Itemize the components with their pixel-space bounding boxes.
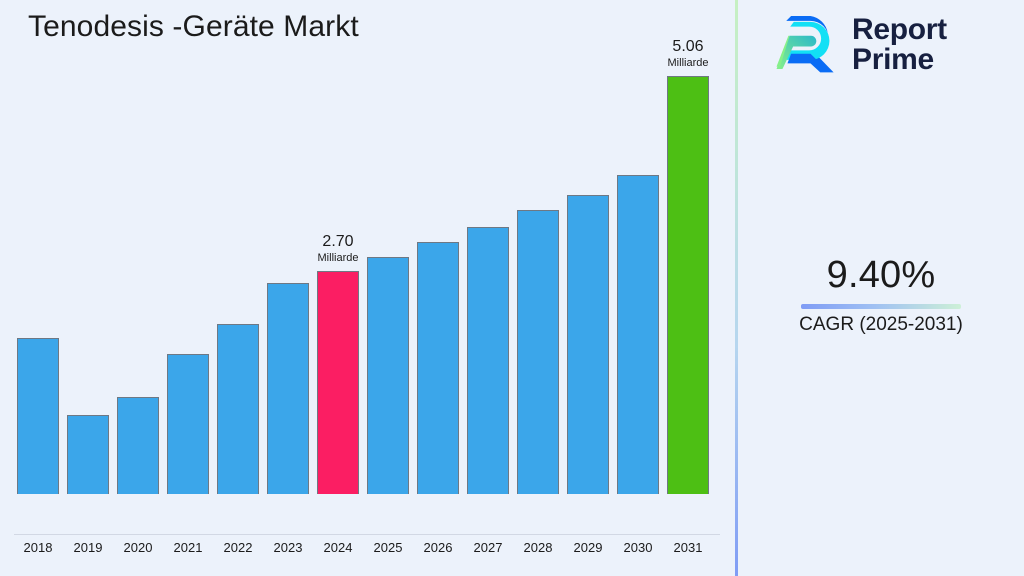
cagr-value: 9.40% <box>738 252 1024 298</box>
x-axis-label-2028: 2028 <box>517 540 559 555</box>
bar-value-label-2031: 5.06Milliarde <box>668 37 709 70</box>
bar-rect-2025 <box>367 257 409 494</box>
bar-rect-2018 <box>17 338 59 494</box>
bar-value-number-2031: 5.06 <box>668 37 709 56</box>
x-axis-label-2020: 2020 <box>117 540 159 555</box>
x-axis-label-2024: 2024 <box>317 540 359 555</box>
brand-wordmark: Report Prime <box>852 15 947 75</box>
x-axis-label-2031: 2031 <box>667 540 709 555</box>
bar-rect-2029 <box>567 195 609 494</box>
x-axis-label-2021: 2021 <box>167 540 209 555</box>
brand-wordmark-line2: Prime <box>852 45 947 75</box>
x-axis-line <box>14 534 720 535</box>
cagr-block: 9.40% CAGR (2025-2031) <box>738 252 1024 337</box>
brand-wordmark-line1: Report <box>852 15 947 45</box>
bar-rect-2031 <box>667 76 709 494</box>
bar-value-unit-2024: Milliarde <box>318 251 359 265</box>
bar-chart-plot-area: 2.70Milliarde5.06Milliarde 2018201920202… <box>0 0 736 536</box>
report-prime-logo-mark <box>774 12 840 78</box>
x-axis-label-2022: 2022 <box>217 540 259 555</box>
cagr-label: CAGR (2025-2031) <box>738 313 1024 337</box>
x-axis-label-2026: 2026 <box>417 540 459 555</box>
bar-rect-2030 <box>617 175 659 494</box>
chart-panel: Tenodesis -Geräte Markt 2.70Milliarde5.0… <box>0 0 736 576</box>
bar-rect-2026 <box>417 242 459 494</box>
bar-rect-2024 <box>317 271 359 494</box>
bar-rect-2027 <box>467 227 509 494</box>
cagr-divider-rule <box>801 304 961 309</box>
brand-panel: Report Prime 9.40% CAGR (2025-2031) <box>738 0 1024 576</box>
x-axis-label-2027: 2027 <box>467 540 509 555</box>
bar-value-label-2024: 2.70Milliarde <box>318 232 359 265</box>
chart-infographic: Tenodesis -Geräte Markt 2.70Milliarde5.0… <box>0 0 1024 576</box>
x-axis-label-2025: 2025 <box>367 540 409 555</box>
bar-rect-2021 <box>167 354 209 494</box>
x-axis-label-2018: 2018 <box>17 540 59 555</box>
bar-value-number-2024: 2.70 <box>318 232 359 251</box>
bar-rect-2023 <box>267 283 309 494</box>
x-axis-label-2023: 2023 <box>267 540 309 555</box>
x-axis-label-2019: 2019 <box>67 540 109 555</box>
bar-rect-2028 <box>517 210 559 494</box>
bar-rect-2019 <box>67 415 109 494</box>
bar-rect-2022 <box>217 324 259 494</box>
x-axis-label-2030: 2030 <box>617 540 659 555</box>
brand-logo: Report Prime <box>774 12 947 78</box>
bar-rect-2020 <box>117 397 159 494</box>
x-axis-label-2029: 2029 <box>567 540 609 555</box>
bar-value-unit-2031: Milliarde <box>668 56 709 70</box>
